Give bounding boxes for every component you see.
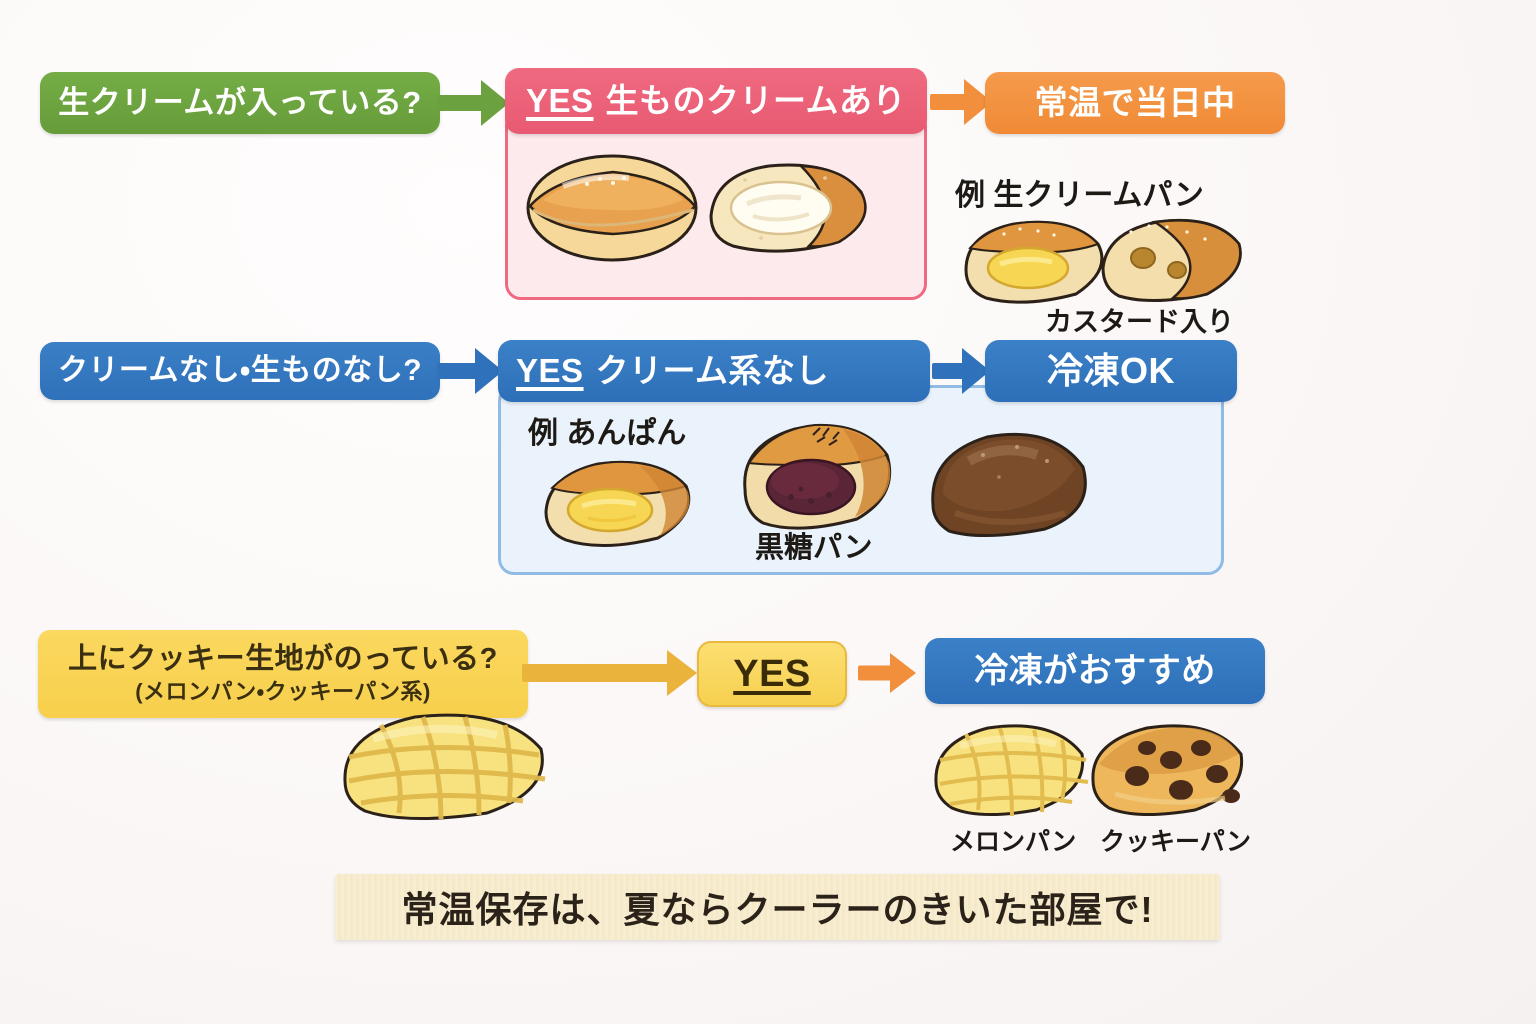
example-sub-label-custard: カスタード入り: [1045, 300, 1234, 339]
bread-label-melon-pan: メロンパン: [950, 822, 1076, 858]
answer-text-nocream: クリーム系なし: [596, 353, 830, 390]
result-label-freeze-ok: 冷凍OK: [1047, 351, 1175, 391]
bread-cookie-pan: [1085, 718, 1250, 820]
example-label-anpan: 例 あんぱん: [528, 408, 686, 452]
arrow-right-icon-row1-q: [437, 80, 509, 126]
answer-box-cookie-yes[interactable]: YES: [697, 641, 847, 707]
bread-custard-bun-whole: [1095, 208, 1247, 308]
bread-brown-sugar-bun: [925, 425, 1095, 543]
bread-label-cookie-pan: クッキーパン: [1100, 822, 1251, 858]
bread-cream-bun-whole: [525, 148, 700, 263]
answer-box-nocream[interactable]: YES クリーム系なし: [498, 340, 930, 402]
question-box-cream[interactable]: 生クリームが入っている?: [40, 72, 440, 134]
bread-custard-bun-cut: [960, 212, 1110, 310]
bread-melon-pan-large: [337, 705, 552, 825]
bottom-banner: 常温保存は、夏ならクーラーのきいた部屋で!: [335, 874, 1220, 940]
question-label-cookie: 上にクッキー生地がのっている?: [68, 643, 498, 675]
bottom-banner-label: 常温保存は、夏ならクーラーのきいた部屋で!: [402, 881, 1154, 933]
result-label-room-temp: 常温で当日中: [1035, 85, 1236, 122]
answer-text-cream: 生ものクリームあり: [606, 83, 907, 120]
bread-melon-pan: [930, 718, 1090, 820]
arrow-right-icon-row2-q: [437, 348, 503, 394]
result-box-freeze-recommended[interactable]: 冷凍がおすすめ: [925, 638, 1265, 704]
bread-cream-bun-cut: [705, 150, 875, 262]
question-label-nocream: クリームなし・生ものなし?: [58, 354, 422, 388]
answer-box-cream[interactable]: YES 生ものクリームあり: [505, 68, 927, 134]
arrow-right-icon-row3-result: [858, 650, 922, 696]
question-label-cream: 生クリームが入っている?: [58, 86, 421, 121]
result-box-room-temp[interactable]: 常温で当日中: [985, 72, 1285, 134]
bread-anpan-cut: [735, 415, 900, 540]
bread-custard-bun-cut-2: [540, 452, 700, 554]
result-label-freeze-recommended: 冷凍がおすすめ: [974, 652, 1216, 690]
arrow-right-icon-row3-q: [522, 650, 697, 696]
infographic-canvas: 生クリームが入っている? YES 生もの: [0, 0, 1536, 1024]
answer-yes-label-nocream: YES: [516, 353, 584, 390]
answer-yes-label-cream: YES: [526, 83, 594, 120]
result-box-freeze-ok[interactable]: 冷凍OK: [985, 340, 1237, 402]
example-sub-label-brown-sugar: 黒糖パン: [755, 524, 872, 566]
arrow-right-icon-row2-result: [932, 348, 992, 394]
question-box-nocream[interactable]: クリームなし・生ものなし?: [40, 342, 440, 400]
answer-yes-label-cookie: YES: [733, 653, 811, 696]
question-sublabel-cookie: (メロンパン・クッキーパン系): [135, 680, 431, 705]
